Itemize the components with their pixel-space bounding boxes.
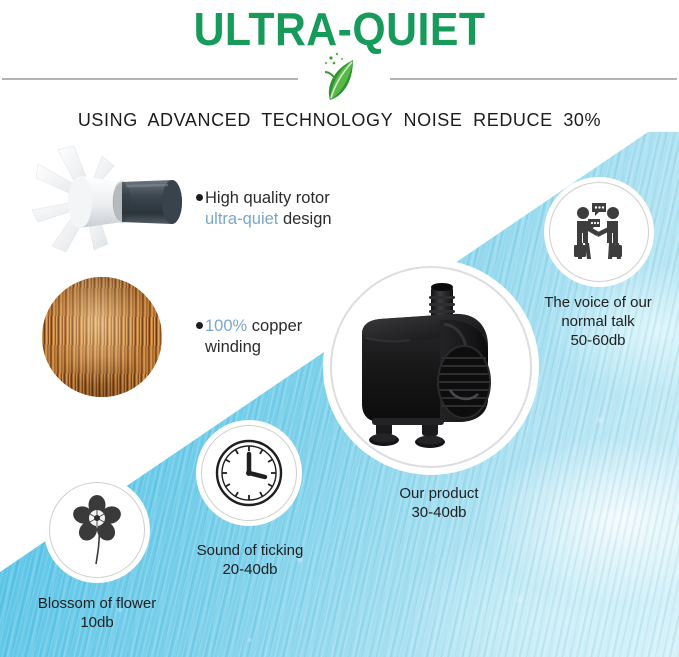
flower-circle <box>49 482 145 578</box>
caption-talk: The voice of our normal talk 50-60db <box>528 293 668 350</box>
caption-product: Our product 30-40db <box>363 484 515 522</box>
caption-flower-line1: Blossom of flower <box>14 594 180 613</box>
feature-rotor-rest: design <box>278 210 331 228</box>
copper-shine <box>42 277 162 397</box>
flower-icon <box>66 494 128 566</box>
feature-rotor-text: High quality rotor ultra-quiet design <box>196 188 366 230</box>
rotor-impeller-photo <box>22 142 202 254</box>
divider-left <box>2 78 298 80</box>
caption-clock-line2: 20-40db <box>174 560 326 579</box>
feature-copper-line2: winding <box>196 337 356 358</box>
two-people-talking-icon <box>566 201 632 263</box>
feature-copper-text: 100% copper winding <box>196 316 356 358</box>
talk-circle <box>549 182 649 282</box>
page-subtitle: USING ADVANCED TECHNOLOGY NOISE REDUCE 3… <box>0 108 679 132</box>
product-circle <box>330 266 532 468</box>
caption-clock: Sound of ticking 20-40db <box>174 541 326 579</box>
caption-talk-line2: normal talk <box>528 312 668 331</box>
caption-product-line2: 30-40db <box>363 503 515 522</box>
divider-right <box>390 78 677 80</box>
copper-winding-photo <box>42 277 162 397</box>
caption-clock-line1: Sound of ticking <box>174 541 326 560</box>
caption-talk-line3: 50-60db <box>528 331 668 350</box>
caption-flower-line2: 10db <box>14 613 180 632</box>
water-pump-photo <box>336 272 526 462</box>
clock-icon <box>213 437 285 509</box>
feature-copper-rest: copper <box>247 317 302 335</box>
feature-rotor-accent: ultra-quiet <box>205 210 278 228</box>
feature-rotor-line1: High quality rotor <box>205 189 330 207</box>
caption-product-line1: Our product <box>363 484 515 503</box>
leaf-icon <box>313 50 365 105</box>
feature-rotor-line2: ultra-quiet design <box>196 209 366 230</box>
caption-flower: Blossom of flower 10db <box>14 594 180 632</box>
feature-copper-accent: 100% <box>205 317 247 335</box>
caption-talk-line1: The voice of our <box>528 293 668 312</box>
clock-circle <box>201 425 297 521</box>
bullet-icon <box>196 322 203 329</box>
page-title: ULTRA-QUIET <box>24 2 655 56</box>
bullet-icon <box>196 194 203 201</box>
infographic-page: ULTRA-QUIET USING ADVANCED TECHNOLOGY NO… <box>0 0 679 657</box>
